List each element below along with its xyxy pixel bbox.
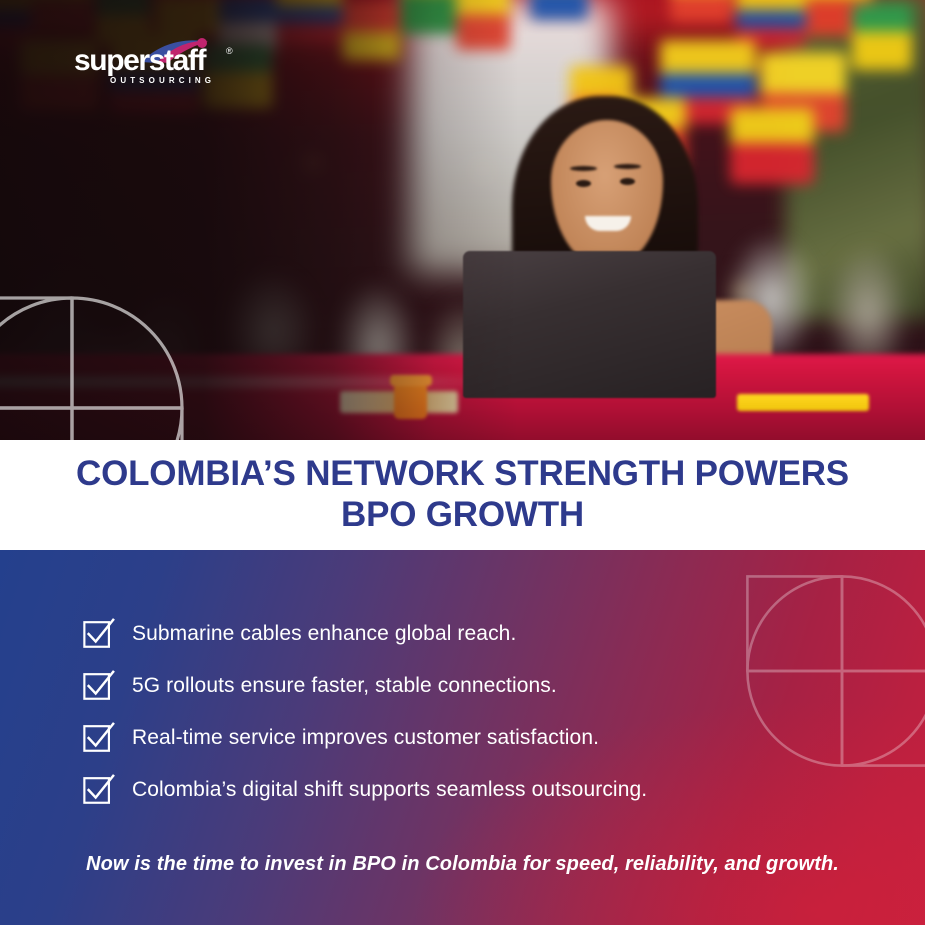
promotional-poster: COLOMBIA’S NETWORK STRENGTH POWERS BPO G… bbox=[0, 0, 925, 925]
page-title: COLOMBIA’S NETWORK STRENGTH POWERS BPO G… bbox=[36, 454, 889, 536]
page-title-line-2: BPO GROWTH bbox=[341, 495, 584, 534]
list-item: Colombia’s digital shift supports seamle… bbox=[82, 764, 842, 816]
checkbox-checked-icon bbox=[82, 617, 116, 651]
checkbox-checked-icon bbox=[82, 669, 116, 703]
list-item: Real-time service improves customer sati… bbox=[82, 712, 842, 764]
pinwheel-motif-icon bbox=[0, 258, 222, 440]
logo-tagline: OUTSOURCING bbox=[110, 77, 215, 85]
benefits-list: Submarine cables enhance global reach. 5… bbox=[82, 608, 842, 816]
list-item-label: Submarine cables enhance global reach. bbox=[132, 622, 516, 646]
content-panel: Submarine cables enhance global reach. 5… bbox=[0, 550, 925, 925]
page-title-line-1: COLOMBIA’S NETWORK STRENGTH POWERS bbox=[76, 454, 849, 493]
logo-wordmark: superstaff bbox=[74, 46, 205, 76]
checkbox-checked-icon bbox=[82, 721, 116, 755]
brand-logo: superstaff ® OUTSOURCING bbox=[74, 44, 249, 88]
checkbox-checked-icon bbox=[82, 773, 116, 807]
list-item: Submarine cables enhance global reach. bbox=[82, 608, 842, 660]
list-item-label: Colombia’s digital shift supports seamle… bbox=[132, 778, 647, 802]
registered-trademark-icon: ® bbox=[226, 47, 233, 56]
list-item-label: 5G rollouts ensure faster, stable connec… bbox=[132, 674, 557, 698]
list-item-label: Real-time service improves customer sati… bbox=[132, 726, 599, 750]
closing-statement: Now is the time to invest in BPO in Colo… bbox=[0, 853, 925, 876]
list-item: 5G rollouts ensure faster, stable connec… bbox=[82, 660, 842, 712]
title-band: COLOMBIA’S NETWORK STRENGTH POWERS BPO G… bbox=[0, 440, 925, 550]
